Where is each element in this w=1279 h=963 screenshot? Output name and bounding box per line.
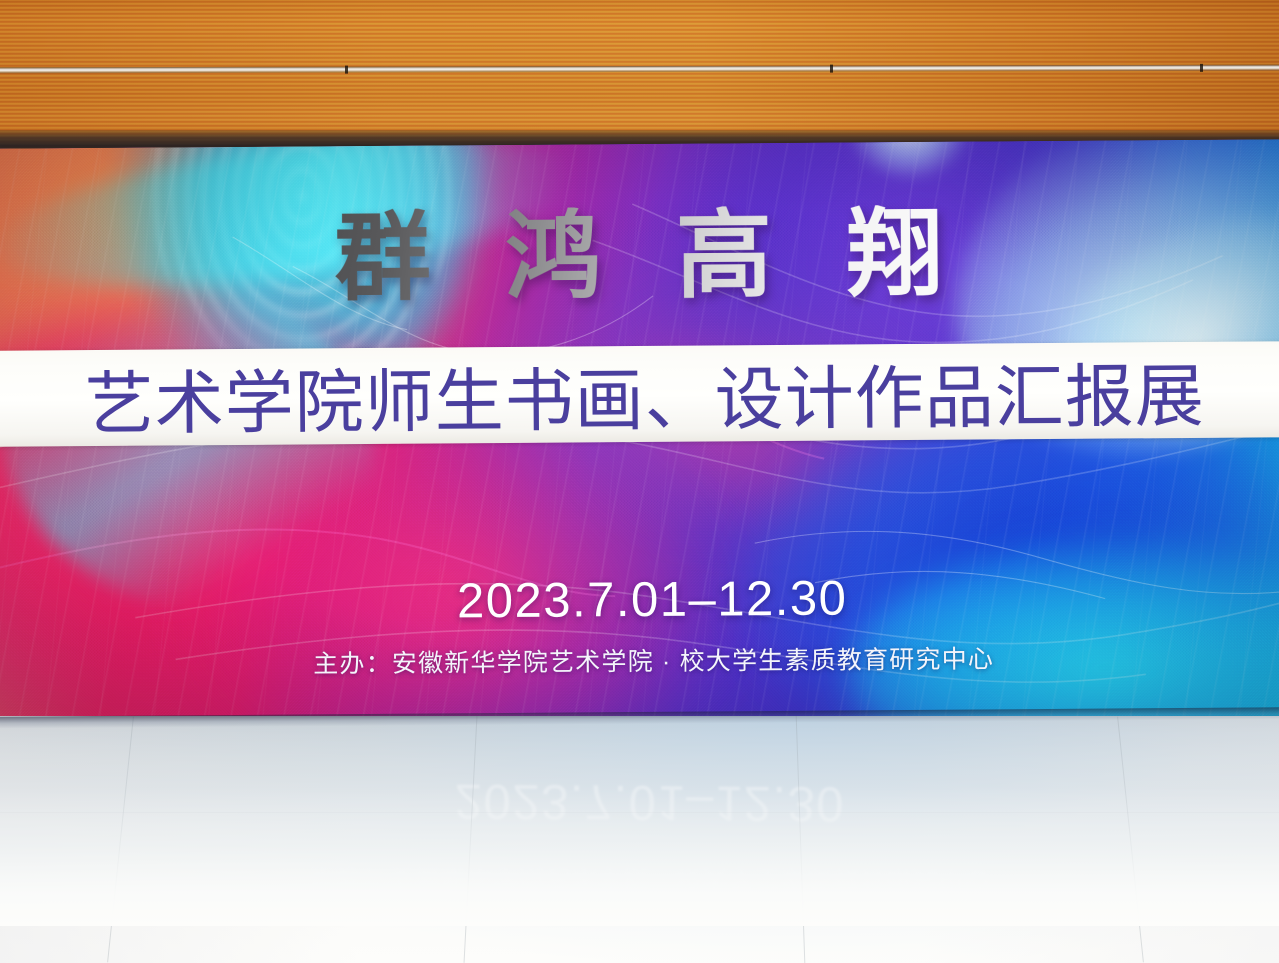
wooden-slat-ceiling: [0, 0, 1279, 152]
rail-joint: [830, 65, 833, 73]
tile-grout-line: [0, 898, 1279, 899]
rail-joint: [345, 66, 348, 74]
ceiling-rail: [0, 65, 1279, 74]
tile-grout-line: [0, 812, 1279, 813]
banner-subtitle-band: 艺术学院师生书画、设计作品汇报展: [0, 341, 1279, 447]
rail-joint: [1200, 64, 1203, 72]
photo-scene: 群 鸿 高 翔 艺术学院师生书画、设计作品汇报展 2023.7.01–12.30…: [0, 0, 1279, 963]
exhibition-banner: 群 鸿 高 翔 艺术学院师生书画、设计作品汇报展 2023.7.01–12.30…: [0, 139, 1279, 734]
banner-subtitle: 艺术学院师生书画、设计作品汇报展: [0, 341, 1279, 447]
banner-main-title: 群 鸿 高 翔: [0, 202, 1279, 312]
banner-artwork: 群 鸿 高 翔 艺术学院师生书画、设计作品汇报展 2023.7.01–12.30…: [0, 139, 1279, 734]
polished-tile-floor: 主办：安徽新华学院艺术学院 · 校大学生素质教育研究中心 2023.7.01–1…: [0, 716, 1279, 963]
floor-sheen: [0, 716, 1279, 963]
banner-date-range: 2023.7.01–12.30: [0, 567, 1279, 632]
